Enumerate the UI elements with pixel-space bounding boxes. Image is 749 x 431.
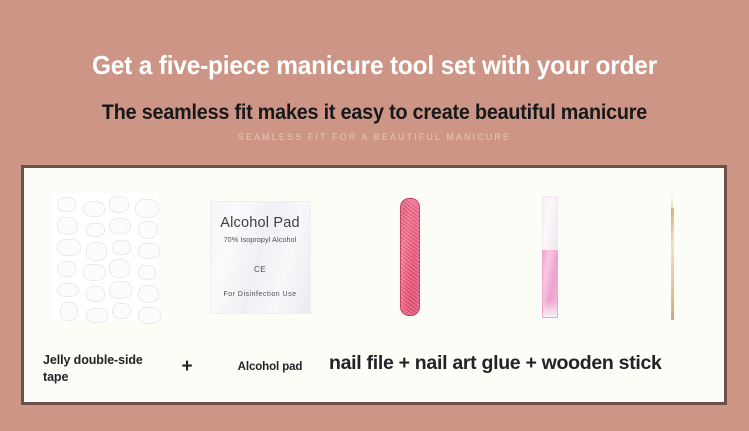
caption-jelly-tape: Jelly double-side tape <box>43 352 155 387</box>
jelly-tape-tab <box>57 197 75 212</box>
jelly-tape-tab <box>138 265 156 280</box>
product-image-alcohol-pad: Alcohol Pad 70% Isopropyl Alcohol CE For… <box>180 168 340 346</box>
product-image-row: Alcohol Pad 70% Isopropyl Alcohol CE For… <box>24 168 724 346</box>
page-subtitle: The seamless fit makes it easy to create… <box>22 101 726 125</box>
alcohol-pad-title: Alcohol Pad <box>220 216 300 231</box>
product-caption-row: Jelly double-side tape + Alcohol pad nai… <box>24 346 724 402</box>
jelly-tape-tab <box>138 285 159 304</box>
jelly-tape-sheet <box>53 193 158 321</box>
jelly-tape-tab <box>86 242 107 261</box>
caption-plus-separator: + <box>172 356 202 378</box>
jelly-tape-tab <box>112 240 130 255</box>
product-image-jelly-tape <box>30 168 180 346</box>
stick-shaft <box>671 208 674 320</box>
wooden-cuticle-stick <box>669 194 676 320</box>
product-image-nail-glue <box>480 168 620 346</box>
caption-alcohol-pad: Alcohol pad <box>210 361 330 373</box>
page-title: Get a five-piece manicure tool set with … <box>22 50 726 81</box>
nail-glue-bottle <box>542 196 558 318</box>
alcohol-pad-usage: For Disinfection Use <box>223 291 296 298</box>
jelly-tape-tab <box>83 201 105 217</box>
jelly-tape-tab <box>60 302 78 321</box>
jelly-tape-tab <box>109 281 133 298</box>
jelly-tape-tab <box>83 264 107 281</box>
jelly-tape-tab <box>86 223 104 238</box>
caption-remaining-tools: nail file + nail art glue + wooden stick <box>329 352 719 375</box>
micro-caption: SEAMLESS FIT FOR A BEAUTIFUL MANICURE <box>0 132 749 142</box>
glue-bottle-cap <box>542 196 558 250</box>
glue-bottle-body <box>542 250 558 318</box>
product-panel: Alcohol Pad 70% Isopropyl Alcohol CE For… <box>21 165 727 405</box>
jelly-tape-tab <box>86 308 108 323</box>
jelly-tape-tab <box>57 217 78 236</box>
jelly-tape-tab <box>135 199 159 218</box>
jelly-tape-tab <box>86 286 106 302</box>
alcohol-pad-strength: 70% Isopropyl Alcohol <box>224 235 297 244</box>
jelly-tape-tab <box>138 243 160 259</box>
nail-file-board <box>400 198 420 316</box>
jelly-tape-tab <box>109 259 130 278</box>
ce-mark-icon: CE <box>254 265 266 274</box>
jelly-tape-tab <box>112 303 132 319</box>
jelly-tape-tab <box>57 283 79 298</box>
promo-banner: Get a five-piece manicure tool set with … <box>0 0 749 431</box>
product-image-nail-file <box>340 168 480 346</box>
jelly-tape-tab <box>57 261 77 277</box>
jelly-tape-tab <box>57 239 81 256</box>
jelly-tape-tab <box>109 218 131 234</box>
jelly-tape-tab <box>138 307 162 324</box>
alcohol-pad-package: Alcohol Pad 70% Isopropyl Alcohol CE For… <box>210 201 311 314</box>
jelly-tape-tab <box>138 221 158 238</box>
product-image-wooden-stick <box>620 168 724 346</box>
jelly-tape-tab <box>109 196 129 213</box>
